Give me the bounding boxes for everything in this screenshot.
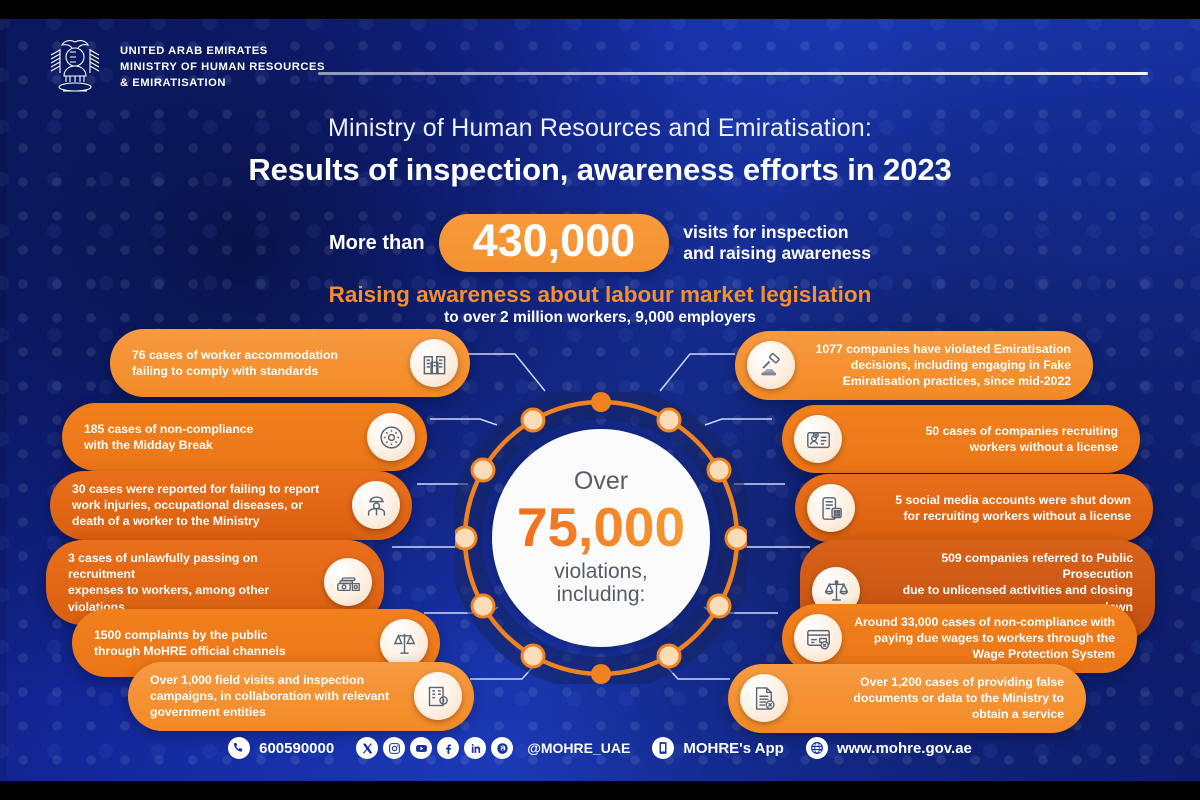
footer-phone[interactable]: 600590000 [228,737,334,759]
card-text: Over 1,000 field visits and inspection c… [150,672,402,721]
stat-card-false-documents[interactable]: Over 1,200 cases of providing false docu… [728,664,1086,733]
card-line-2: campaigns, in collaboration with relevan… [150,688,402,704]
card-text: 185 cases of non-compliance with the Mid… [84,421,355,453]
money-stack-icon [324,558,372,606]
footer-social-handle: @MOHRE_UAE [527,740,630,756]
footer-app-label: MOHRE's App [683,740,784,757]
header-divider [318,72,1148,75]
card-line-2: through MoHRE official channels [94,643,368,659]
stat-suffix-line-2: and raising awareness [683,243,871,264]
card-line-1: 5 social media accounts were shut down [867,492,1131,508]
stat-prefix: More than [329,232,425,255]
page-title: Results of inspection, awareness efforts… [0,152,1200,188]
card-line-2: documents or data to the Ministry to [800,690,1064,706]
card-line-1: 30 cases were reported for failing to re… [72,481,340,497]
stat-card-social-media-shutdown[interactable]: 5 social media accounts were shut down f… [795,474,1153,542]
gavel-icon [747,341,795,389]
card-text: 3 cases of unlawfully passing on recruit… [68,550,312,615]
card-text: Around 33,000 cases of non-compliance wi… [854,614,1115,663]
field-visit-icon [414,672,462,720]
card-line-2: work injuries, occupational diseases, or [72,497,340,513]
sun-midday-icon [367,413,415,461]
complaint-scale-icon [380,619,428,667]
letterbox-top [0,0,1200,19]
card-line-1: Over 1,000 field visits and inspection [150,672,402,688]
document-deny-icon [740,674,788,722]
wage-card-deny-icon [794,614,842,662]
letterbox-bottom [0,781,1200,800]
stat-card-work-injuries[interactable]: 30 cases were reported for failing to re… [50,471,412,540]
social-icons [356,737,513,759]
injured-worker-icon [352,481,400,529]
linkedin-icon[interactable] [464,737,486,759]
footer-app[interactable]: MOHRE's App [652,737,784,759]
x-twitter-icon[interactable] [356,737,378,759]
card-line-1: 50 cases of companies recruiting [854,423,1118,439]
stat-card-worker-accommodation[interactable]: 76 cases of worker accommodation failing… [110,329,470,397]
card-line-3: death of a worker to the Ministry [72,513,340,529]
stat-card-unlicensed-recruiting[interactable]: 50 cases of companies recruiting workers… [782,405,1140,473]
facebook-icon[interactable] [437,737,459,759]
brand-line-3: & EMIRATISATION [120,75,325,91]
stat-suffix: visits for inspection and raising awaren… [683,222,871,264]
card-text: 76 cases of worker accommodation failing… [132,347,398,379]
card-line-1: 3 cases of unlawfully passing on recruit… [68,550,312,582]
center-violation-count: 75,000 [517,498,685,557]
center-over-label: Over [574,469,628,494]
card-text: 30 cases were reported for failing to re… [72,481,340,530]
youtube-icon[interactable] [410,737,432,759]
center-stat-circle: Over 75,000 violations, including: [492,429,710,647]
card-line-2: workers without a license [854,439,1118,455]
stat-suffix-line-1: visits for inspection [683,222,871,243]
page-subtitle: Ministry of Human Resources and Emiratis… [0,114,1200,143]
card-text: 50 cases of companies recruiting workers… [854,423,1118,455]
stat-card-emiratisation-violations[interactable]: 1077 companies have violated Emiratisati… [735,331,1093,400]
building-icon [410,339,458,387]
card-line-3: obtain a service [800,706,1064,722]
card-text: 1500 complaints by the public through Mo… [94,627,368,659]
card-line-1: 76 cases of worker accommodation [132,347,398,363]
headline-stat: More than 430,000 visits for inspection … [0,214,1200,272]
uae-falcon-emblem-icon [46,36,104,98]
brand-line-2: MINISTRY OF HUMAN RESOURCES [120,59,325,75]
brand-text: UNITED ARAB EMIRATES MINISTRY OF HUMAN R… [120,43,325,92]
footer-social: @MOHRE_UAE [356,737,630,759]
stat-card-field-visits[interactable]: Over 1,000 field visits and inspection c… [128,662,474,731]
card-line-3: government entities [150,704,402,720]
card-line-2: paying due wages to workers through the [854,630,1115,646]
footer-contact-bar: 600590000 [0,737,1200,759]
awareness-heading: Raising awareness about labour market le… [0,282,1200,308]
footer-phone-number: 600590000 [259,740,334,757]
card-line-2: for recruiting workers without a license [867,508,1131,524]
card-line-1: 185 cases of non-compliance [84,421,355,437]
title-block: Ministry of Human Resources and Emiratis… [0,114,1200,188]
stat-card-wage-protection[interactable]: Around 33,000 cases of non-compliance wi… [782,604,1137,673]
card-line-2: decisions, including engaging in Fake [807,357,1071,373]
globe-icon [806,737,828,759]
id-card-deny-icon [794,415,842,463]
footer-website[interactable]: www.mohre.gov.ae [806,737,972,759]
card-line-1: Around 33,000 cases of non-compliance wi… [854,614,1115,630]
card-text: 5 social media accounts were shut down f… [867,492,1131,524]
card-text: 1077 companies have violated Emiratisati… [807,341,1071,390]
card-line-2: with the Midday Break [84,437,355,453]
card-line-2: failing to comply with standards [132,363,398,379]
card-line-1: 509 companies referred to Public Prosecu… [872,550,1133,582]
infographic-stage: UNITED ARAB EMIRATES MINISTRY OF HUMAN R… [0,0,1200,800]
infographic-canvas: UNITED ARAB EMIRATES MINISTRY OF HUMAN R… [0,19,1200,781]
center-tail-line-2: including: [554,583,647,607]
awareness-subheading: to over 2 million workers, 9,000 employe… [0,309,1200,327]
footer-website-url: www.mohre.gov.ae [837,740,972,757]
card-text: Over 1,200 cases of providing false docu… [800,674,1064,723]
brand-header: UNITED ARAB EMIRATES MINISTRY OF HUMAN R… [46,36,325,98]
instagram-icon[interactable] [383,737,405,759]
center-tail-line-1: violations, [554,560,647,584]
card-line-1: 1077 companies have violated Emiratisati… [807,341,1071,357]
phone-call-icon [228,737,250,759]
brand-line-1: UNITED ARAB EMIRATES [120,43,325,59]
card-line-1: 1500 complaints by the public [94,627,368,643]
card-line-1: Over 1,200 cases of providing false [800,674,1064,690]
card-line-3: Wage Protection System [854,646,1115,662]
stat-card-midday-break[interactable]: 185 cases of non-compliance with the Mid… [62,403,427,471]
card-line-3: Emiratisation practices, since mid-2022 [807,373,1071,389]
mobile-app-icon [652,737,674,759]
stat-number-pill: 430,000 [439,214,670,272]
mobile-deny-icon [807,484,855,532]
threads-icon[interactable] [491,737,513,759]
center-tail-text: violations, including: [554,560,647,607]
